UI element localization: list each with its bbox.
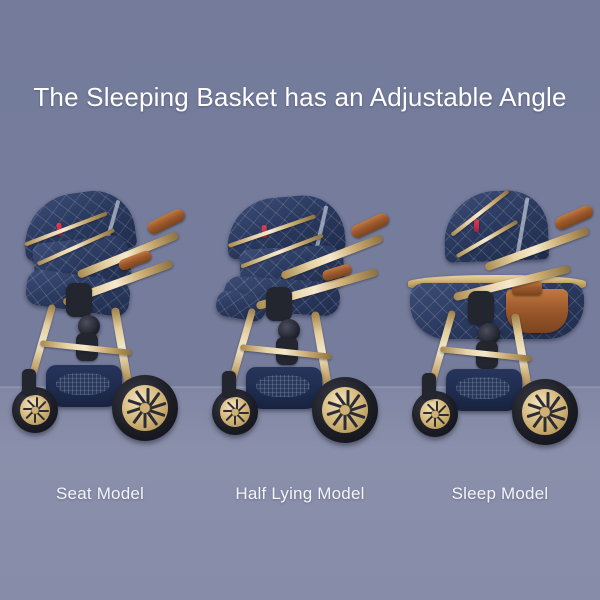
- rear-wheel: [312, 377, 378, 443]
- front-wheel: [212, 389, 258, 435]
- model-labels: Seat Model Half Lying Model Sleep Model: [0, 484, 600, 510]
- front-wheel-rim: [20, 395, 50, 425]
- folding-joint[interactable]: [266, 287, 292, 321]
- rear-wheel-rim: [122, 385, 168, 431]
- page-title: The Sleeping Basket has an Adjustable An…: [0, 82, 600, 113]
- front-wheel-rim: [420, 399, 450, 429]
- stroller-seat-model: [0, 175, 200, 475]
- product-image-scene: The Sleeping Basket has an Adjustable An…: [0, 0, 600, 600]
- front-fork: [22, 369, 36, 395]
- rear-wheel: [512, 379, 578, 445]
- handle-grip[interactable]: [553, 203, 595, 231]
- label-seat-model: Seat Model: [0, 484, 200, 510]
- handle-grip[interactable]: [145, 207, 187, 236]
- rear-wheel: [112, 375, 178, 441]
- basket-mesh: [256, 375, 310, 397]
- stroller-unit: [400, 175, 600, 475]
- handle-grip[interactable]: [349, 211, 391, 240]
- brand-tag: [474, 219, 479, 232]
- label-sleep-model: Sleep Model: [400, 484, 600, 510]
- folding-joint[interactable]: [66, 283, 92, 317]
- front-wheel-rim: [220, 397, 250, 427]
- basket-mesh: [56, 373, 110, 395]
- rear-wheel-rim: [522, 389, 568, 435]
- basket-mesh: [456, 377, 510, 399]
- front-wheel: [412, 391, 458, 437]
- stroller-sleep-model: [400, 175, 600, 475]
- front-wheel: [12, 387, 58, 433]
- stroller-unit: [200, 175, 400, 475]
- stroller-row: [0, 175, 600, 475]
- stroller-half-lying-model: [200, 175, 400, 475]
- rear-wheel-rim: [322, 387, 368, 433]
- label-half-lying-model: Half Lying Model: [200, 484, 400, 510]
- front-fork: [422, 373, 436, 399]
- stroller-unit: [0, 175, 200, 475]
- folding-joint[interactable]: [468, 291, 494, 325]
- front-fork: [222, 371, 236, 397]
